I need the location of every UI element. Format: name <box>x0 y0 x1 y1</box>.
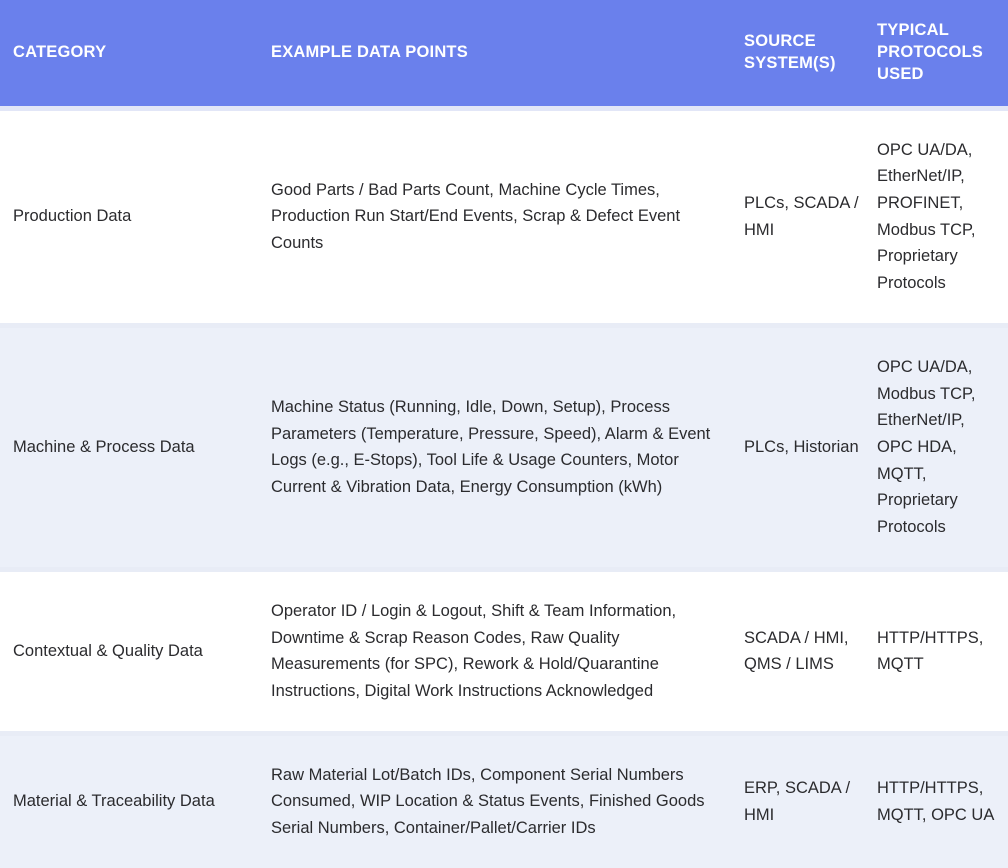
table-header: CATEGORY EXAMPLE DATA POINTS SOURCE SYST… <box>0 0 1008 108</box>
table-header-row: CATEGORY EXAMPLE DATA POINTS SOURCE SYST… <box>0 0 1008 108</box>
cell-source: ERP, SCADA / HMI <box>744 733 877 868</box>
cell-protocols: OPC UA/DA, Modbus TCP, EtherNet/IP, OPC … <box>877 325 1008 569</box>
table-row: Material & Traceability Data Raw Materia… <box>0 733 1008 868</box>
cell-protocols: HTTP/HTTPS, MQTT, OPC UA <box>877 733 1008 868</box>
column-header-source: SOURCE SYSTEM(S) <box>744 0 877 108</box>
cell-category: Production Data <box>0 108 271 325</box>
cell-protocols: OPC UA/DA, EtherNet/IP, PROFINET, Modbus… <box>877 108 1008 325</box>
cell-examples: Machine Status (Running, Idle, Down, Set… <box>271 325 744 569</box>
cell-source: PLCs, Historian <box>744 325 877 569</box>
table-row: Machine & Process Data Machine Status (R… <box>0 325 1008 569</box>
cell-examples: Raw Material Lot/Batch IDs, Component Se… <box>271 733 744 868</box>
cell-category: Machine & Process Data <box>0 325 271 569</box>
column-header-category: CATEGORY <box>0 0 271 108</box>
table-row: Production Data Good Parts / Bad Parts C… <box>0 108 1008 325</box>
cell-examples: Operator ID / Login & Logout, Shift & Te… <box>271 569 744 733</box>
column-header-protocols: TYPICAL PROTOCOLS USED <box>877 0 1008 108</box>
table-row: Contextual & Quality Data Operator ID / … <box>0 569 1008 733</box>
cell-category: Contextual & Quality Data <box>0 569 271 733</box>
cell-category: Material & Traceability Data <box>0 733 271 868</box>
cell-protocols: HTTP/HTTPS, MQTT <box>877 569 1008 733</box>
table-container: CATEGORY EXAMPLE DATA POINTS SOURCE SYST… <box>0 0 1008 868</box>
cell-source: PLCs, SCADA / HMI <box>744 108 877 325</box>
table-body: Production Data Good Parts / Bad Parts C… <box>0 108 1008 868</box>
cell-examples: Good Parts / Bad Parts Count, Machine Cy… <box>271 108 744 325</box>
cell-source: SCADA / HMI, QMS / LIMS <box>744 569 877 733</box>
column-header-examples: EXAMPLE DATA POINTS <box>271 0 744 108</box>
data-categories-table: CATEGORY EXAMPLE DATA POINTS SOURCE SYST… <box>0 0 1008 868</box>
